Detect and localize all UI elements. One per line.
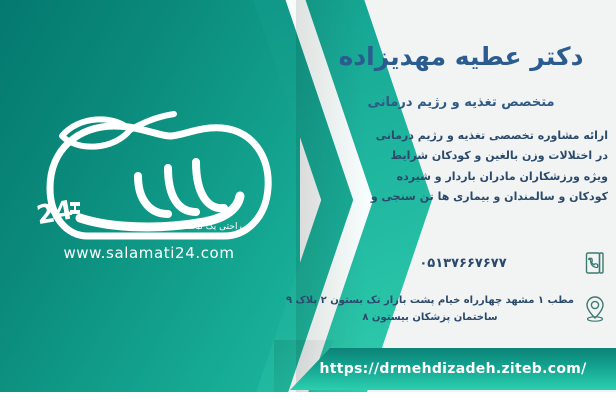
location-pin-icon <box>582 294 608 324</box>
website-url-band[interactable]: https://drmehdizadeh.ziteb.com/ <box>290 348 616 390</box>
doctor-name: دکتر عطیه مهدیزاده <box>316 42 606 71</box>
phone-book-icon <box>582 248 608 278</box>
description-line: در اختلالات وزن بالغین و کودکان شرایط <box>326 146 608 166</box>
logo-website[interactable]: www.salamati24.com <box>18 244 280 262</box>
phone-row[interactable]: ۰۵۱۳۷۶۶۷۶۷۷ <box>326 248 608 278</box>
description-line: کودکان و سالمندان و بیماری ها تن سنجی و <box>326 187 608 207</box>
address-text[interactable]: مطب ۱ مشهد چهارراه خیام پشت بازار تک بست… <box>276 292 574 326</box>
bottom-edge <box>0 392 616 400</box>
services-description: ارائه مشاوره تخصصی تغذیه و رژیم درمانی د… <box>326 126 608 207</box>
info-panel: دکتر عطیه مهدیزاده متخصص تغذیه و رژیم در… <box>316 0 616 400</box>
description-line: ارائه مشاوره تخصصی تغذیه و رژیم درمانی <box>326 126 608 146</box>
website-url[interactable]: https://drmehdizadeh.ziteb.com/ <box>319 361 586 377</box>
brand-logo: 24 به راحتی یک لبخند www.salamati24.com <box>18 96 280 276</box>
address-line: مطب ۱ مشهد چهارراه خیام پشت بازار تک بست… <box>286 292 574 309</box>
address-line: ساختمان پزشکان بیستون ۸ <box>286 309 574 326</box>
doctor-specialty: متخصص تغذیه و رژیم درمانی <box>316 95 606 110</box>
business-card: 24 به راحتی یک لبخند www.salamati24.com … <box>0 0 616 400</box>
phone-number[interactable]: ۰۵۱۳۷۶۶۷۶۷۷ <box>326 256 574 271</box>
logo-tagline: به راحتی یک لبخند <box>184 222 252 232</box>
description-line: ویژه ورزشکاران مادران باردار و شیرده <box>326 167 608 187</box>
address-row[interactable]: مطب ۱ مشهد چهارراه خیام پشت بازار تک بست… <box>326 292 608 326</box>
svg-text:24: 24 <box>34 195 75 231</box>
